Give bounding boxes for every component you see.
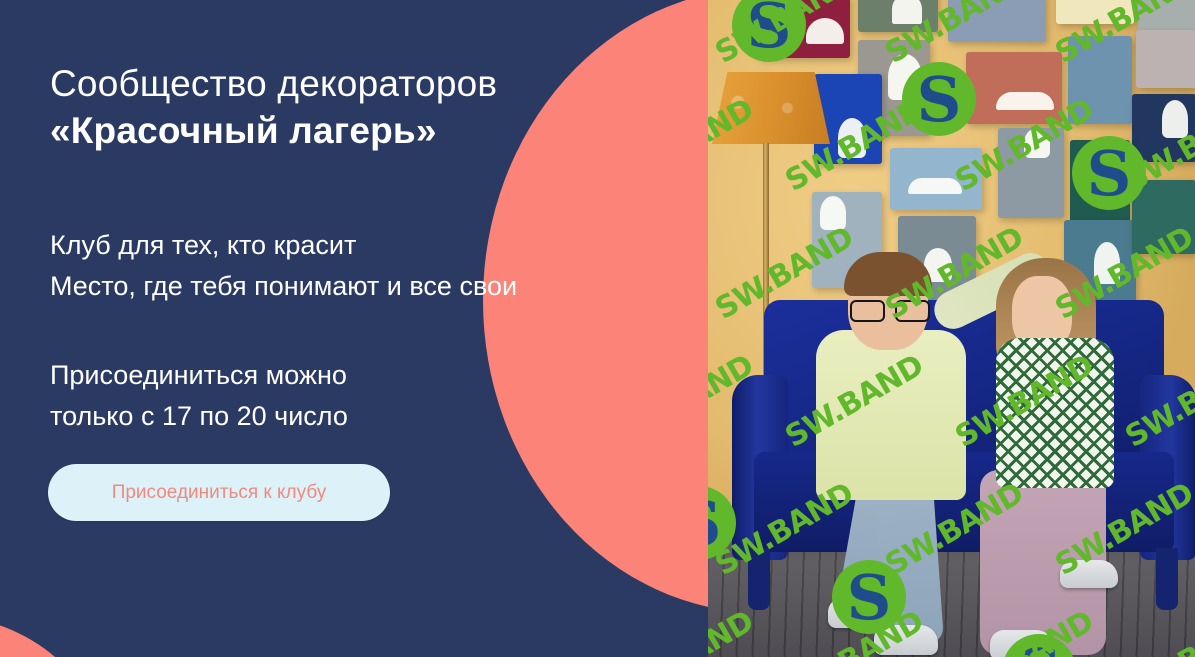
join-club-button[interactable]: Присоединиться к клубу [48, 464, 390, 521]
page-title: Сообщество декораторов «Красочный лагерь… [50, 60, 650, 155]
promo-banner: SW.BANDSW.BANDSW.BANDSW.BANDSW.BANDSW.BA… [0, 0, 1195, 657]
paint-swatch-panel [758, 0, 850, 58]
paint-swatch-panel [858, 0, 938, 32]
couple-on-blue-sofa-photo: SW.BANDSW.BANDSW.BANDSW.BANDSW.BANDSW.BA… [708, 0, 1195, 657]
swatch-blob [1094, 242, 1120, 284]
swatch-blob [892, 0, 922, 24]
lamp-shade [712, 72, 830, 144]
swatch-blob [820, 196, 846, 230]
woman-sneaker [1060, 560, 1118, 588]
paint-swatch-panel [1070, 140, 1130, 222]
man-sneaker [828, 598, 892, 628]
paint-swatch-panel [1068, 36, 1132, 124]
man-torso [816, 330, 966, 500]
swatch-blob [806, 18, 844, 44]
swatch-blob [1162, 100, 1188, 138]
sofa-leg [1156, 548, 1178, 610]
schedule-line-2: только с 17 по 20 число [50, 396, 570, 437]
man-eyeglasses [850, 300, 926, 318]
sofa-leg [748, 548, 770, 610]
paint-swatch-panel [948, 0, 1046, 42]
swatch-blob [838, 118, 866, 158]
paint-swatch-panel [998, 128, 1064, 218]
schedule-line-1: Присоединиться можно [50, 355, 570, 396]
paint-swatch-panel [890, 148, 982, 210]
swatch-blob [996, 92, 1054, 110]
schedule-block: Присоединиться можно только с 17 по 20 ч… [50, 355, 570, 437]
subtitle-line-1: Клуб для тех, кто красит [50, 225, 670, 266]
paint-swatch-panel [1056, 0, 1134, 24]
paint-swatch-panel [1136, 30, 1195, 88]
paint-swatch-panel [966, 52, 1062, 124]
paint-swatch-panel [1132, 94, 1195, 162]
swatch-blob [888, 54, 922, 100]
subtitle-block: Клуб для тех, кто красит Место, где тебя… [50, 225, 670, 307]
swatch-blob [1024, 128, 1050, 158]
woman-sneaker [990, 630, 1054, 657]
title-line-2: «Красочный лагерь» [50, 107, 650, 154]
hero-content: Сообщество декораторов «Красочный лагерь… [0, 0, 700, 657]
title-line-1: Сообщество декораторов [50, 60, 650, 107]
swatch-blob [908, 178, 962, 194]
woman-jacket [996, 338, 1114, 488]
subtitle-line-2: Место, где тебя понимают и все свои [50, 266, 670, 307]
man-sneaker [874, 625, 938, 655]
paint-swatch-panel [1132, 180, 1195, 254]
